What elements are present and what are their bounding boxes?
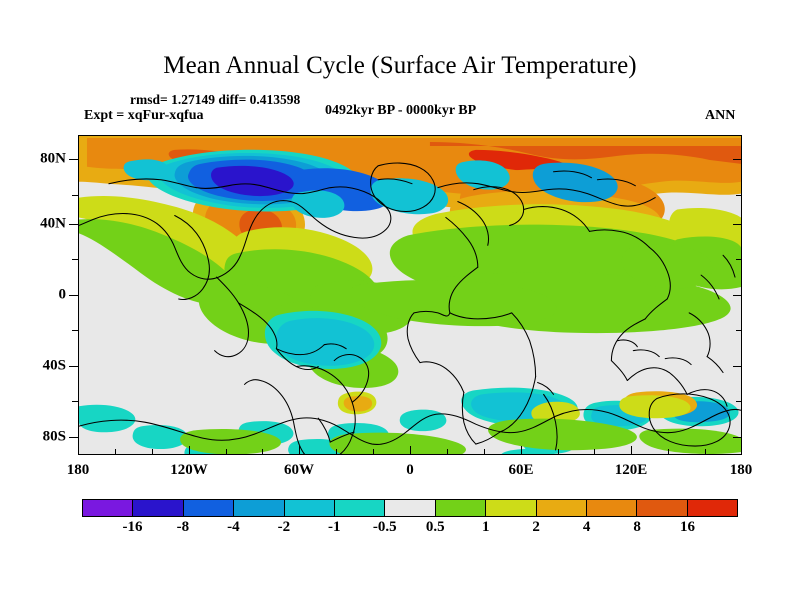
x-tick-120w xyxy=(189,446,190,455)
map-plot-area[interactable] xyxy=(78,135,742,455)
period-label: 0492kyr BP - 0000kyr BP xyxy=(325,103,476,119)
y-tick-80n xyxy=(69,159,78,160)
colorbar-label-9: 4 xyxy=(583,519,591,536)
y-tick-right-40s xyxy=(733,366,742,367)
y-tick-80s xyxy=(69,437,78,438)
x-tick-0 xyxy=(410,446,411,455)
colorbar-label-4: -1 xyxy=(328,519,341,536)
y-tick-right-60s xyxy=(736,401,742,402)
colorbar-label-6: 0.5 xyxy=(426,519,445,536)
y-axis-label-80s: 80S xyxy=(43,429,66,446)
y-tick-40s xyxy=(69,366,78,367)
y-tick-60n xyxy=(72,195,78,196)
y-axis-label-80n: 80N xyxy=(40,151,66,168)
colorbar-segment-10 xyxy=(587,500,637,516)
x-tick-180w xyxy=(78,446,79,455)
y-tick-40n xyxy=(69,224,78,225)
x-tick-80w xyxy=(262,449,263,455)
x-axis-label-120w: 120W xyxy=(170,462,208,479)
colorbar-segment-2 xyxy=(184,500,234,516)
y-tick-60s xyxy=(72,401,78,402)
x-tick-180e xyxy=(741,446,742,455)
colorbar-segment-12 xyxy=(688,500,737,516)
x-axis-label-180e: 180 xyxy=(730,462,753,479)
season-label: ANN xyxy=(705,108,735,124)
colorbar-label-11: 16 xyxy=(680,519,695,536)
colorbar-label-7: 1 xyxy=(482,519,490,536)
y-tick-right-0 xyxy=(733,295,742,296)
x-tick-160e xyxy=(705,449,706,455)
colorbar-label-0: -16 xyxy=(122,519,142,536)
y-tick-right-80s xyxy=(733,437,742,438)
y-tick-20n xyxy=(72,259,78,260)
x-axis-label-60w: 60W xyxy=(284,462,314,479)
colorbar-segment-6 xyxy=(385,500,435,516)
x-tick-160w xyxy=(115,449,116,455)
x-tick-40w xyxy=(336,449,337,455)
colorbar-label-1: -8 xyxy=(177,519,190,536)
colorbar-segment-3 xyxy=(234,500,284,516)
colorbar-segment-1 xyxy=(133,500,183,516)
anomaly-map xyxy=(79,136,741,454)
x-tick-60w xyxy=(299,446,300,455)
y-axis-label-40s: 40S xyxy=(43,358,66,375)
y-tick-20s xyxy=(72,330,78,331)
rmsd-diff-annotation: rmsd= 1.27149 diff= 0.413598 xyxy=(130,92,300,108)
y-tick-right-20s xyxy=(736,330,742,331)
y-axis-label-0: 0 xyxy=(59,287,67,304)
colorbar-segment-8 xyxy=(486,500,536,516)
y-tick-right-80n xyxy=(733,159,742,160)
colorbar-segment-11 xyxy=(637,500,687,516)
x-tick-40e xyxy=(484,449,485,455)
y-axis-label-40n: 40N xyxy=(40,216,66,233)
x-axis-label-180w: 180 xyxy=(67,462,90,479)
experiment-label: Expt = xqFur-xqfua xyxy=(84,108,203,124)
x-tick-100w xyxy=(226,449,227,455)
colorbar-label-10: 8 xyxy=(633,519,641,536)
colorbar-segment-9 xyxy=(537,500,587,516)
x-tick-120e xyxy=(631,446,632,455)
x-axis-label-0: 0 xyxy=(406,462,414,479)
colorbar-segment-4 xyxy=(285,500,335,516)
x-tick-80e xyxy=(558,449,559,455)
colorbar-label-3: -2 xyxy=(278,519,291,536)
colorbar xyxy=(82,499,738,517)
x-tick-140e xyxy=(668,449,669,455)
x-tick-100e xyxy=(594,449,595,455)
y-tick-right-40n xyxy=(733,224,742,225)
y-tick-0 xyxy=(69,295,78,296)
colorbar-label-5: -0.5 xyxy=(373,519,397,536)
x-axis-label-60e: 60E xyxy=(508,462,533,479)
x-axis-label-120e: 120E xyxy=(615,462,648,479)
colorbar-label-8: 2 xyxy=(532,519,540,536)
colorbar-label-2: -4 xyxy=(227,519,240,536)
x-tick-60e xyxy=(521,446,522,455)
colorbar-segment-5 xyxy=(335,500,385,516)
colorbar-segment-7 xyxy=(436,500,486,516)
colorbar-segment-0 xyxy=(83,500,133,516)
x-tick-20w xyxy=(373,449,374,455)
y-tick-right-20n xyxy=(736,259,742,260)
x-tick-20e xyxy=(447,449,448,455)
x-tick-140w xyxy=(152,449,153,455)
page-title: Mean Annual Cycle (Surface Air Temperatu… xyxy=(0,52,800,80)
colorbar-tick-labels: -16-8-4-2-1-0.50.5124816 xyxy=(82,519,738,541)
y-tick-right-60n xyxy=(736,195,742,196)
